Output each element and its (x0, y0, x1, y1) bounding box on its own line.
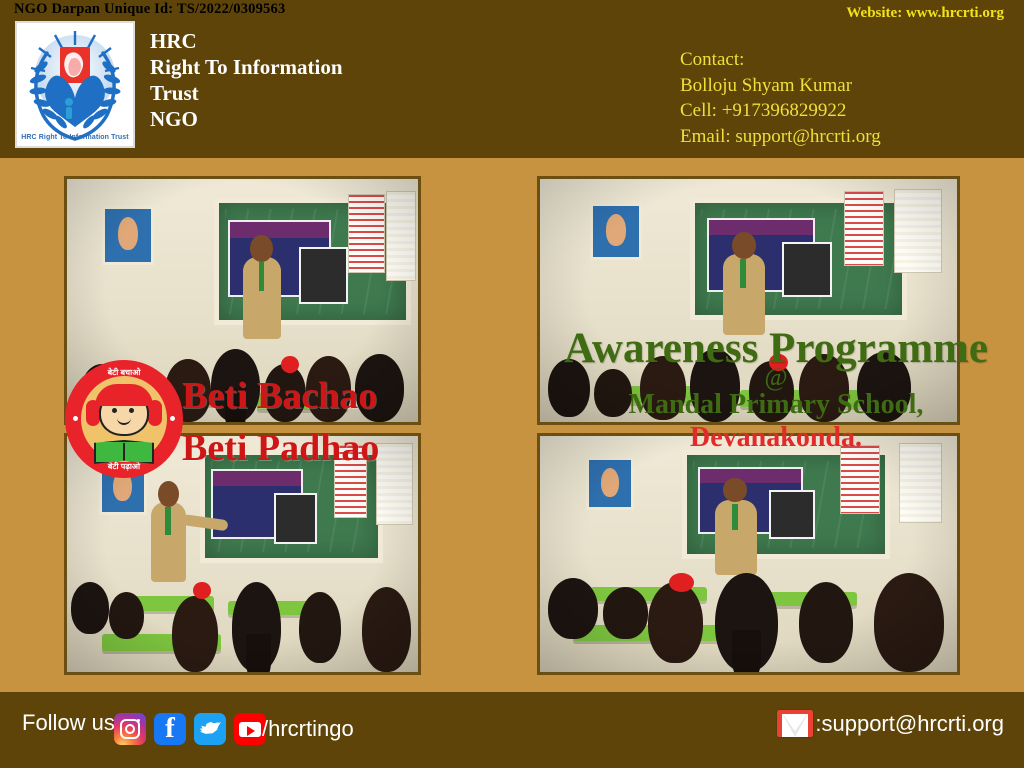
header-bar: NGO Darpan Unique Id: TS/2022/0309563 (0, 0, 1024, 158)
footer-email-block[interactable]: :support@hrcrti.org (777, 710, 1004, 737)
photo-scene (540, 436, 957, 672)
logo-girl-eye-right (129, 408, 134, 413)
logo-text-top: बेटी बचाओ (65, 367, 183, 378)
event-at-symbol: @ (528, 364, 1024, 392)
campaign-slogan-line-1: Beti Bachao (182, 370, 379, 422)
logo-text-bottom: बेटी पढ़ाओ (65, 461, 183, 472)
hrc-ngo-logo-icon (17, 23, 133, 146)
instagram-icon[interactable] (114, 713, 146, 745)
org-line-2: Right To Information (150, 54, 343, 80)
logo-dot-right (170, 416, 175, 421)
footer-email-text[interactable]: :support@hrcrti.org (815, 711, 1004, 737)
organization-name: HRC Right To Information Trust NGO (150, 28, 343, 132)
campaign-slogan: Beti Bachao Beti Padhao (182, 370, 379, 474)
ngo-darpan-id: NGO Darpan Unique Id: TS/2022/0309563 (14, 1, 285, 18)
org-line-1: HRC (150, 28, 343, 54)
hrc-logo-caption: HRC Right To Information Trust (17, 134, 133, 141)
twitter-icon[interactable] (194, 713, 226, 745)
photo-vignette (540, 436, 957, 672)
hrc-ngo-logo: HRC Right To Information Trust (15, 21, 135, 148)
logo-girl-eye-left (112, 408, 117, 413)
facebook-icon[interactable]: f (154, 713, 186, 745)
social-handle[interactable]: /hrcrtingo (262, 716, 354, 742)
org-line-3: Trust (150, 80, 343, 106)
event-place: Devanakonda. (528, 422, 1024, 454)
contact-phone[interactable]: Cell: +917396829922 (680, 98, 881, 124)
gmail-icon[interactable] (777, 710, 813, 737)
logo-dot-left (73, 416, 78, 421)
classroom-photo-bottom-right (537, 433, 960, 675)
campaign-slogan-line-2: Beti Padhao (182, 422, 379, 474)
contact-block: Contact: Bolloju Shyam Kumar Cell: +9173… (680, 47, 881, 149)
contact-person: Bolloju Shyam Kumar (680, 73, 881, 99)
poster-canvas: NGO Darpan Unique Id: TS/2022/0309563 (0, 0, 1024, 768)
contact-label: Contact: (680, 47, 881, 73)
org-line-4: NGO (150, 106, 343, 132)
website-link[interactable]: Website: www.hrcrti.org (846, 5, 1004, 22)
beti-bachao-beti-padhao-logo: बेटी बचाओ बेटी पढ़ाओ (65, 360, 183, 478)
event-venue: Mandal Primary School, (528, 389, 1024, 421)
follow-us-label: Follow us: (22, 710, 121, 736)
logo-open-book (94, 440, 154, 464)
contact-email[interactable]: Email: support@hrcrti.org (680, 124, 881, 150)
social-icon-row: f (114, 713, 266, 745)
